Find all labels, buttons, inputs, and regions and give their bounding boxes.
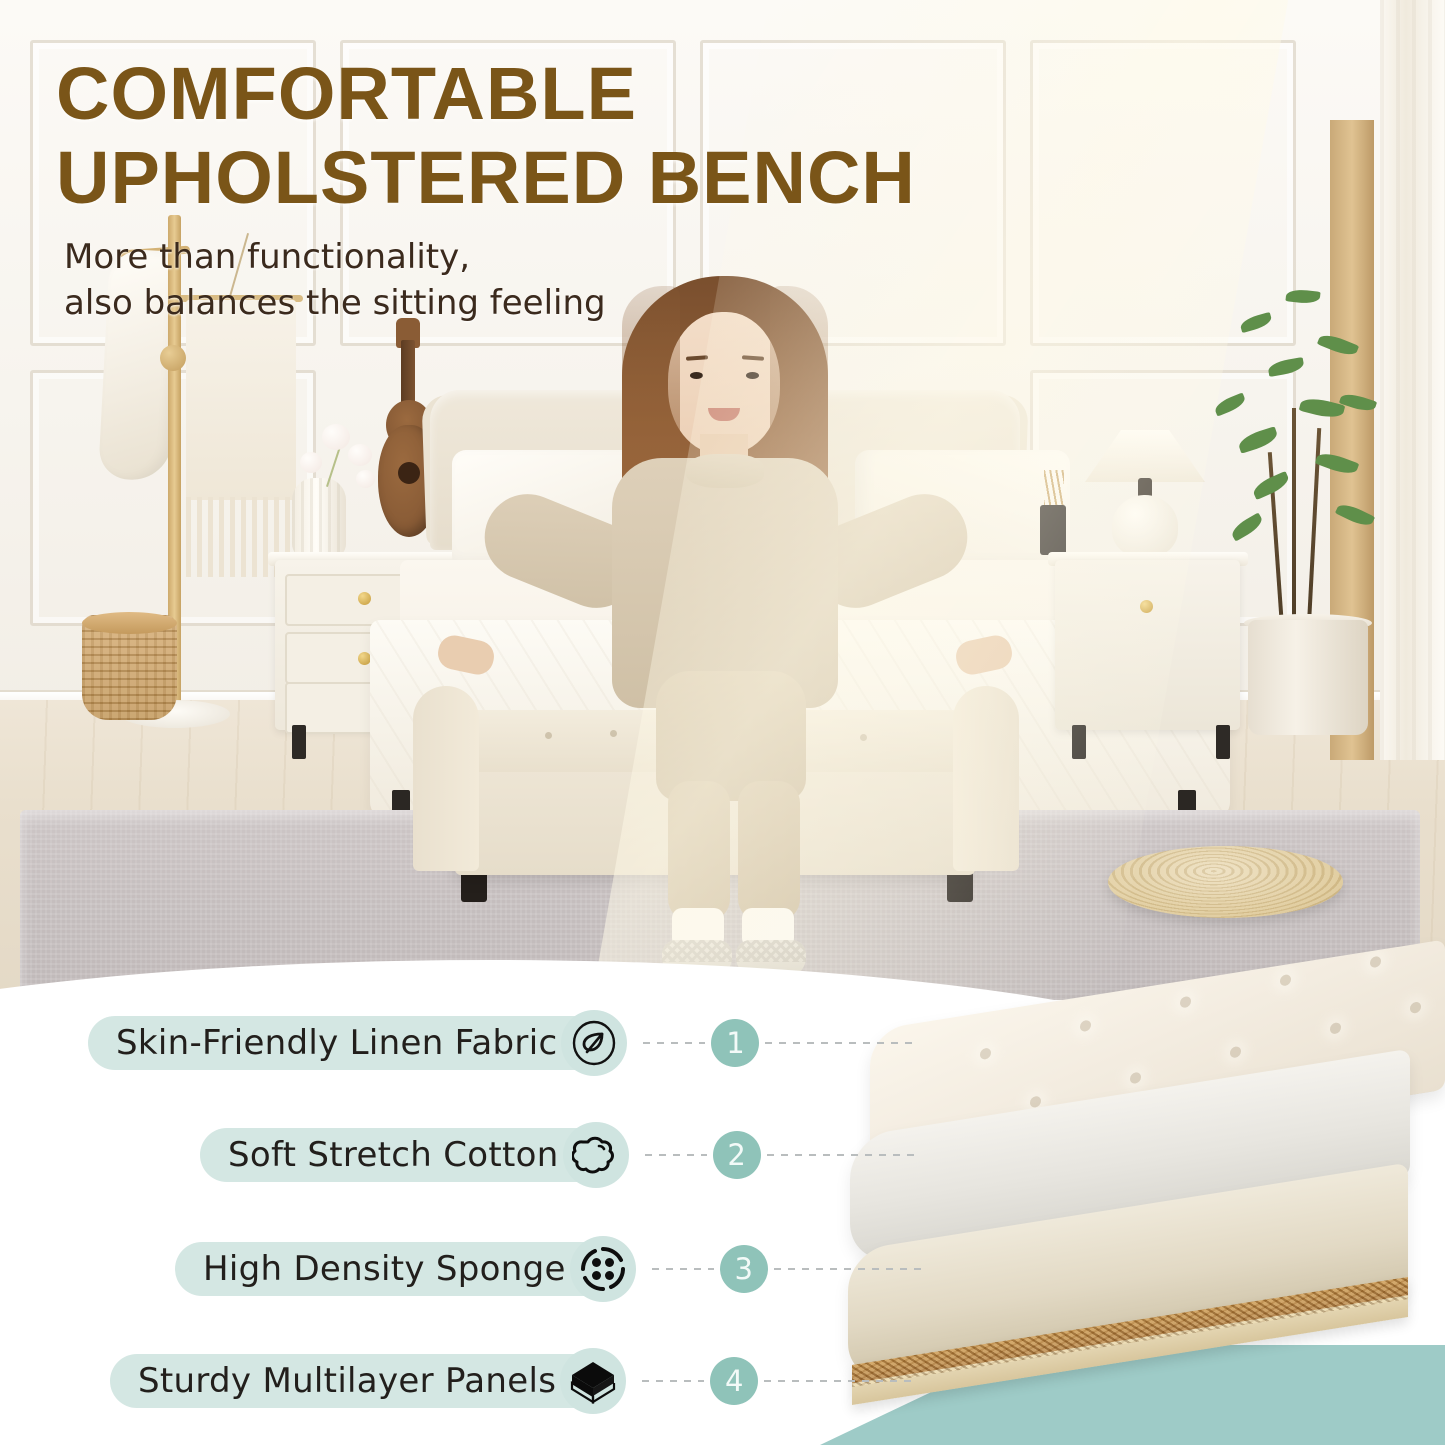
feature-pill-2[interactable]: Soft Stretch Cotton bbox=[200, 1128, 623, 1182]
step-badge-1: 1 bbox=[711, 1019, 759, 1067]
step-badge-2: 2 bbox=[713, 1131, 761, 1179]
feature-label-1: Skin-Friendly Linen Fabric bbox=[116, 1023, 557, 1063]
sponge-cells-icon bbox=[570, 1236, 636, 1302]
material-layer-stack bbox=[840, 985, 1445, 1445]
panel-block-icon bbox=[560, 1348, 626, 1414]
vase-ribs bbox=[292, 478, 346, 558]
feature-row-2[interactable]: Soft Stretch Cotton 2 bbox=[200, 1122, 917, 1188]
step-badge-4: 4 bbox=[710, 1357, 758, 1405]
connector-line-3b bbox=[774, 1268, 924, 1270]
leaf-icon bbox=[561, 1010, 627, 1076]
feature-list: Skin-Friendly Linen Fabric 1 Soft Stretc… bbox=[0, 1000, 880, 1430]
bench-leg bbox=[461, 872, 487, 902]
product-infographic-poster: COMFORTABLE UPHOLSTERED BENCH More than … bbox=[0, 0, 1445, 1445]
connector-line-2b bbox=[767, 1154, 917, 1156]
headline-line-1: COMFORTABLE bbox=[56, 52, 1066, 136]
feature-pill-3[interactable]: High Density Sponge bbox=[175, 1242, 630, 1296]
connector-line-1b bbox=[765, 1042, 915, 1044]
feature-row-1[interactable]: Skin-Friendly Linen Fabric 1 bbox=[88, 1010, 915, 1076]
nightstand-leg bbox=[292, 725, 306, 759]
feature-label-4: Sturdy Multilayer Panels bbox=[138, 1361, 556, 1401]
connector-line-2a bbox=[645, 1154, 707, 1156]
seat-tuft bbox=[545, 732, 552, 739]
feature-row-3[interactable]: High Density Sponge 3 bbox=[175, 1236, 924, 1302]
orchid-bloom bbox=[348, 444, 372, 466]
feature-label-2: Soft Stretch Cotton bbox=[228, 1135, 559, 1175]
macrame-wall-hanging bbox=[186, 300, 296, 500]
feature-pill-1[interactable]: Skin-Friendly Linen Fabric bbox=[88, 1016, 621, 1070]
headline-block: COMFORTABLE UPHOLSTERED BENCH More than … bbox=[56, 52, 1066, 326]
nightstand-leg bbox=[1216, 725, 1230, 759]
feature-pill-4[interactable]: Sturdy Multilayer Panels bbox=[110, 1354, 620, 1408]
feature-row-4[interactable]: Sturdy Multilayer Panels 4 bbox=[110, 1348, 914, 1414]
headline-line-2: UPHOLSTERED BENCH bbox=[56, 136, 1066, 220]
subheadline-line-2: also balances the sitting feeling bbox=[64, 280, 1066, 326]
connector-line-4a bbox=[642, 1380, 704, 1382]
cotton-cloud-icon bbox=[563, 1122, 629, 1188]
feature-label-3: High Density Sponge bbox=[203, 1249, 566, 1289]
plant-trunk bbox=[1292, 408, 1296, 628]
basket-rim bbox=[82, 612, 177, 634]
connector-line-4b bbox=[764, 1380, 914, 1382]
ukulele-soundhole bbox=[398, 462, 420, 484]
drawer-knob bbox=[358, 592, 371, 605]
step-badge-3: 3 bbox=[720, 1245, 768, 1293]
planter-pot bbox=[1248, 620, 1368, 735]
subheadline-line-1: More than functionality, bbox=[64, 234, 1066, 280]
connector-line-1a bbox=[643, 1042, 705, 1044]
orchid-bloom bbox=[322, 424, 350, 450]
bench-arm-left bbox=[413, 686, 479, 871]
connector-line-3a bbox=[652, 1268, 714, 1270]
coat-rack-knob bbox=[160, 345, 186, 371]
curtain-folds bbox=[1380, 0, 1445, 760]
orchid-bloom bbox=[356, 470, 375, 488]
orchid-bloom bbox=[300, 452, 322, 473]
pouf-weave bbox=[1108, 846, 1343, 918]
